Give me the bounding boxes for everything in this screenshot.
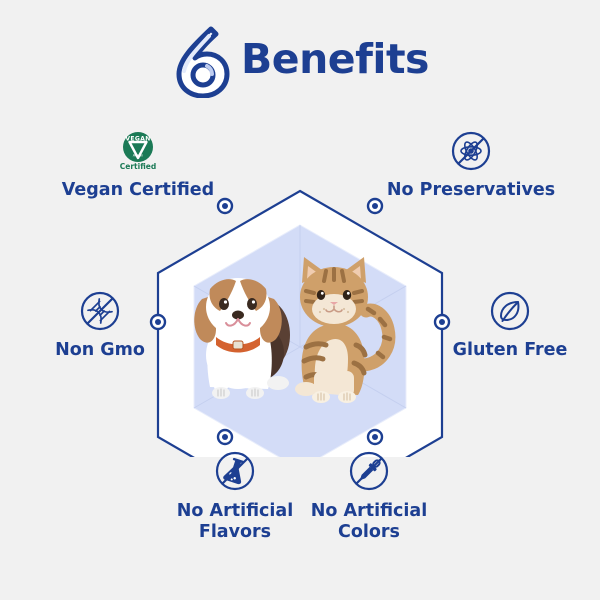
leaf-icon: [487, 288, 533, 334]
vertex-node-bottom-right: [368, 430, 382, 444]
vertex-node-top-right: [368, 199, 382, 213]
count-numeral-icon: [171, 24, 235, 98]
benefit-label-vegan-certified: Vegan Certified: [62, 180, 214, 201]
benefit-label-no-preservatives: No Preservatives: [387, 180, 555, 201]
no-dna-icon: [77, 288, 123, 334]
benefit-label-no-artificial-flavors: No Artificial Flavors: [177, 501, 293, 542]
benefit-item-non-gmo[interactable]: Non Gmo: [40, 288, 160, 361]
vertex-node-bottom-left: [218, 430, 232, 444]
no-atom-icon: [448, 128, 494, 174]
hexagon-diagram: [130, 185, 470, 457]
benefit-label-non-gmo: Non Gmo: [55, 340, 145, 361]
page-title: Benefits: [0, 24, 600, 98]
page-title-text: Benefits: [241, 39, 429, 84]
no-dropper-icon: [346, 448, 392, 494]
svg-text:Certified: Certified: [120, 162, 156, 171]
benefit-item-no-artificial-colors[interactable]: No Artificial Colors: [302, 448, 436, 542]
benefit-item-no-artificial-flavors[interactable]: No Artificial Flavors: [168, 448, 302, 542]
benefit-item-no-preservatives[interactable]: No Preservatives: [382, 128, 560, 201]
infographic-root: Benefits: [0, 0, 600, 600]
benefit-label-gluten-free: Gluten Free: [453, 340, 568, 361]
benefit-item-gluten-free[interactable]: Gluten Free: [440, 288, 580, 361]
vegan-certified-badge-icon: VEGAN Action Certified: [115, 128, 161, 174]
no-flask-icon: [212, 448, 258, 494]
vertex-node-top-left: [218, 199, 232, 213]
benefit-label-no-artificial-colors: No Artificial Colors: [311, 501, 427, 542]
svg-text:Action: Action: [133, 154, 144, 158]
benefit-item-vegan-certified[interactable]: VEGAN Action Certified Vegan Certified: [58, 128, 218, 201]
